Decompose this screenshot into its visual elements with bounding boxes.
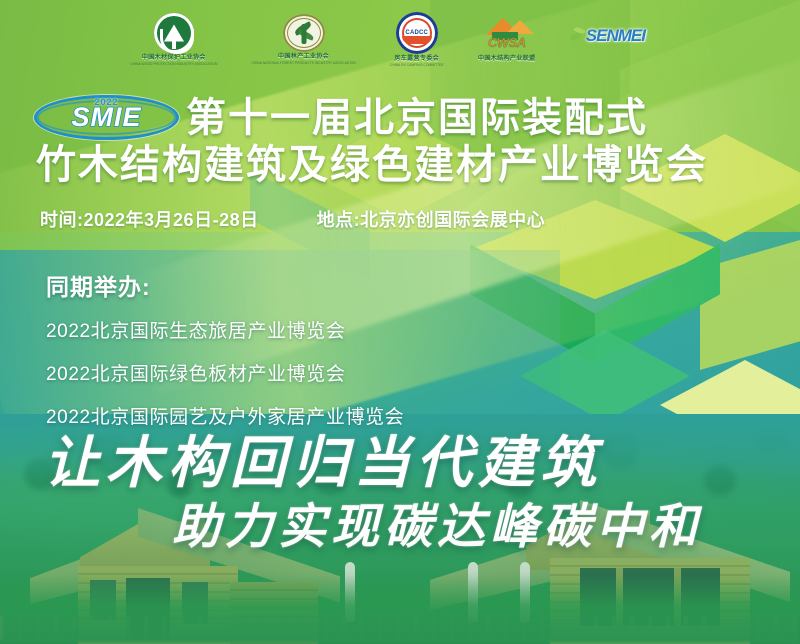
slogan-line2: 助力实现碳达峰碳中和 (172, 487, 702, 557)
logo-cwsa-wood-structure-alliance[interactable]: CWSA 中国木结构产业联盟 (478, 10, 536, 68)
logo-bamboo-industry-association[interactable]: 中国林产工业协会 CHINA NATIONAL FOREST PRODUCTS … (251, 10, 355, 68)
house-roof-icon: CWSA (478, 16, 536, 54)
logo-label-cn: 中国木结构产业联盟 (478, 56, 536, 63)
logo-label-cn: 房车露营专委会 (394, 56, 439, 63)
logo-senmei[interactable]: SENMEI (570, 10, 670, 68)
cadcc-badge-icon: CADCC (396, 12, 438, 54)
page-title-line2: 竹木结构建筑及绿色建材产业博览会 (36, 142, 708, 188)
logo-label-cn: 中国林产工业协会 (278, 54, 329, 61)
logo-abbr: CWSA (480, 35, 534, 50)
event-meta: 时间:2022年3月26日-28日 地点:北京亦创国际会展中心 (40, 206, 545, 232)
exhibition-poster: 中国木材保护工业协会 CHINA WOOD PROTECTION INDUSTR… (0, 0, 800, 644)
logo-label-en: CHINA RV CAMPING COMMITTEE (390, 63, 444, 67)
logo-label-en: CHINA WOOD PROTECTION INDUSTRY ASSOCIATI… (130, 62, 217, 66)
concurrent-event-item: 2022北京国际生态旅居产业博览会 (46, 316, 404, 343)
logo-china-wood-protection-industry-association[interactable]: 中国木材保护工业协会 CHINA WOOD PROTECTION INDUSTR… (130, 10, 217, 68)
smie-logo[interactable]: 2022 SMIE (34, 95, 179, 140)
event-venue: 地点:北京亦创国际会展中心 (317, 206, 546, 232)
concurrent-event-item: 2022北京国际绿色板材产业博览会 (46, 359, 404, 386)
organizer-logo-bar: 中国木材保护工业协会 CHINA WOOD PROTECTION INDUSTR… (0, 0, 800, 78)
concurrent-events-heading: 同期举办: (46, 268, 404, 302)
page-title-line1: 第十一届北京国际装配式 (186, 96, 648, 140)
event-date: 时间:2022年3月26日-28日 (40, 206, 259, 232)
sprout-icon: SENMEI (570, 22, 670, 56)
logo-label-cn: 中国木材保护工业协会 (142, 55, 206, 62)
logo-abbr: CADCC (405, 30, 428, 36)
evergreen-tree-circle-icon (154, 13, 194, 53)
smie-wordmark: SMIE (34, 104, 179, 131)
logo-cadcc-rv-camping-committee[interactable]: CADCC 房车露营专委会 CHINA RV CAMPING COMMITTEE (390, 10, 444, 68)
logo-abbr: SENMEI (586, 26, 645, 46)
bamboo-oval-icon (283, 14, 325, 52)
logo-label-en: CHINA NATIONAL FOREST PRODUCTS INDUSTRY … (251, 61, 355, 65)
